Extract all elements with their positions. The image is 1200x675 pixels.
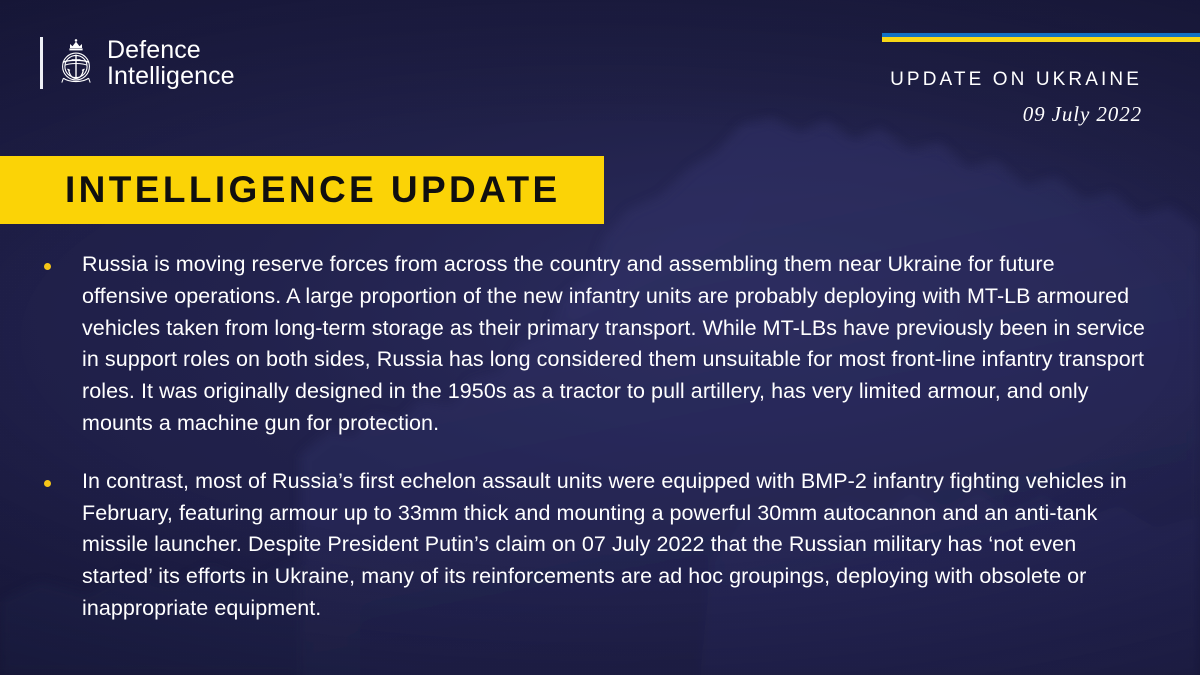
list-item: Russia is moving reserve forces from acr… xyxy=(44,249,1156,440)
intelligence-update-poster: Defence Intelligence UPDATE ON UKRAINE 0… xyxy=(0,0,1200,675)
banner-title: INTELLIGENCE UPDATE xyxy=(0,169,561,211)
mod-defence-intelligence-crest-icon xyxy=(56,37,96,89)
brand-divider xyxy=(40,37,43,89)
update-kicker: UPDATE ON UKRAINE xyxy=(882,69,1200,91)
brand-wordmark: Defence Intelligence xyxy=(107,37,235,90)
header-right-block: UPDATE ON UKRAINE 09 July 2022 xyxy=(882,33,1200,127)
bullet-paragraph: In contrast, most of Russia’s first eche… xyxy=(82,466,1145,625)
brand-lockup: Defence Intelligence xyxy=(40,34,235,92)
intelligence-update-banner: INTELLIGENCE UPDATE xyxy=(0,156,604,224)
update-date: 09 July 2022 xyxy=(882,102,1200,127)
bullet-dot-icon xyxy=(44,263,51,270)
brand-line-1: Defence xyxy=(107,37,235,64)
ukraine-flag-bar-icon xyxy=(882,33,1200,42)
brand-line-2: Intelligence xyxy=(107,63,235,90)
flag-yellow-band xyxy=(882,37,1200,42)
bullet-paragraph: Russia is moving reserve forces from acr… xyxy=(82,249,1145,440)
bullet-dot-icon xyxy=(44,480,51,487)
list-item: In contrast, most of Russia’s first eche… xyxy=(44,466,1156,625)
body-content: Russia is moving reserve forces from acr… xyxy=(44,249,1156,625)
